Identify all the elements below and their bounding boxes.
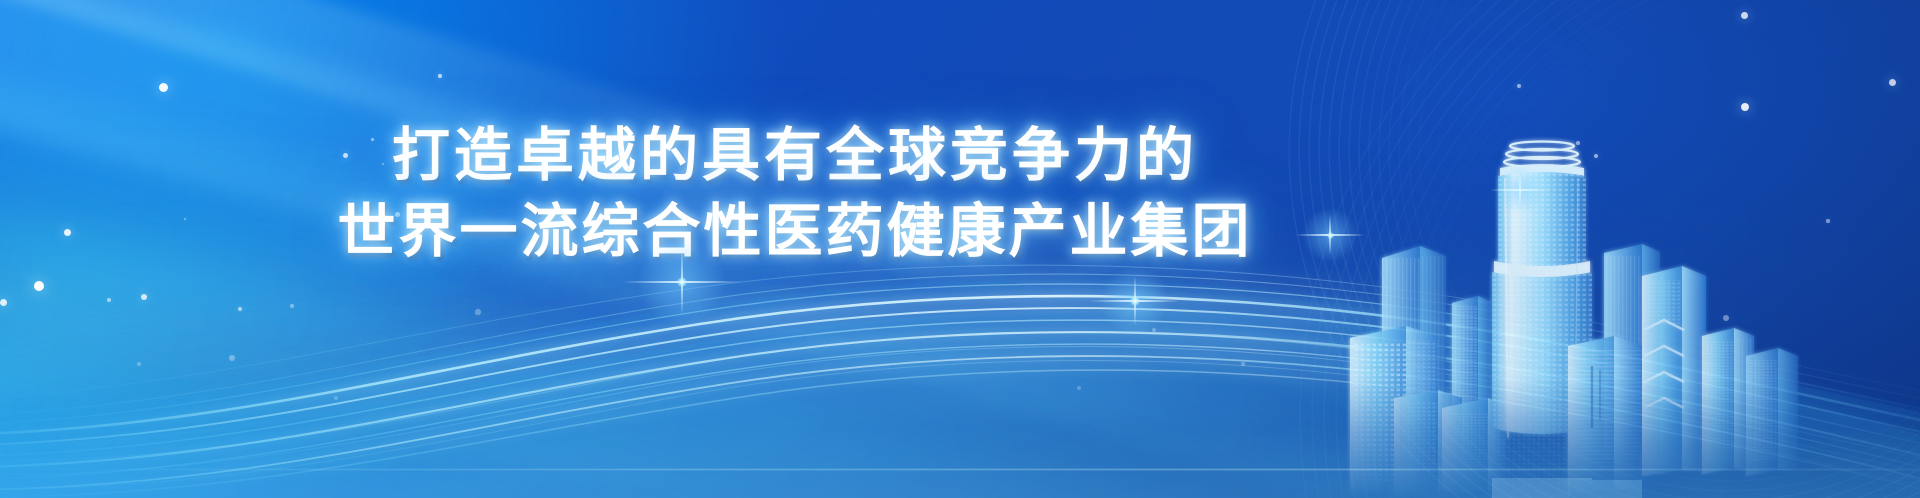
light-band-decor [0,0,1920,498]
wave-ribbons-decor [0,198,1920,498]
particle-dot [1077,386,1081,390]
particle-dot [1517,84,1521,88]
particle-dot [159,83,168,92]
particle-dot [1889,79,1896,86]
haze-glow-decor [0,170,700,370]
particle-dot [343,153,348,158]
particle-dot [1723,315,1729,321]
concentric-arc-rings-decor [1280,0,1920,498]
particle-dot [0,299,7,306]
concentric-arc-rings-decor [1290,0,1920,498]
particle-dot [238,307,242,311]
headline-line-1: 打造卓越的具有全球竞争力的 [0,118,1590,194]
particle-dot [184,218,187,221]
haze-glow-decor [0,198,1402,422]
particle-dot [290,304,294,308]
particle-dot [1152,328,1157,333]
lens-flare-icon [1490,160,1550,220]
light-band-decor [0,90,1920,498]
hero-banner: 打造卓越的具有全球竞争力的 世界一流综合性医药健康产业集团 [0,0,1920,498]
light-band-decor [0,210,1920,498]
particle-dot [1576,141,1580,145]
city-skyline-illustration [1342,98,1812,498]
headline-line-2: 世界一流综合性医药健康产业集团 [0,194,1590,270]
light-band-decor [0,0,1920,498]
particle-dot [137,362,142,367]
particle-dot [371,138,374,141]
particle-dot [1741,12,1748,19]
particle-dot [334,396,338,400]
lens-flare-icon [1090,256,1180,346]
particle-dot [1241,362,1245,366]
particle-dot [141,294,147,300]
particle-dot [382,163,384,165]
particle-dot [395,212,400,217]
particle-dot [107,298,111,302]
ground-line-decor [0,469,1920,470]
particle-dot [34,281,44,291]
lens-flare-icon [1295,200,1365,270]
particle-dot [64,229,71,236]
haze-glow-decor [378,239,1782,471]
shadow-wedge-decor [0,40,1920,498]
wave-glow-decor [0,308,1440,498]
particle-dot [438,74,442,78]
lens-flare-icon [622,222,742,342]
headline-block: 打造卓越的具有全球竞争力的 世界一流综合性医药健康产业集团 [0,118,1920,270]
light-band-decor [0,0,1920,498]
particle-dot [1741,103,1749,111]
particle-dot [229,355,235,361]
particle-dot [475,309,480,314]
particle-dot [1551,164,1553,166]
ground-sheen-decor [0,428,1920,498]
particle-dot [1826,219,1829,222]
particle-dot [1594,154,1598,158]
